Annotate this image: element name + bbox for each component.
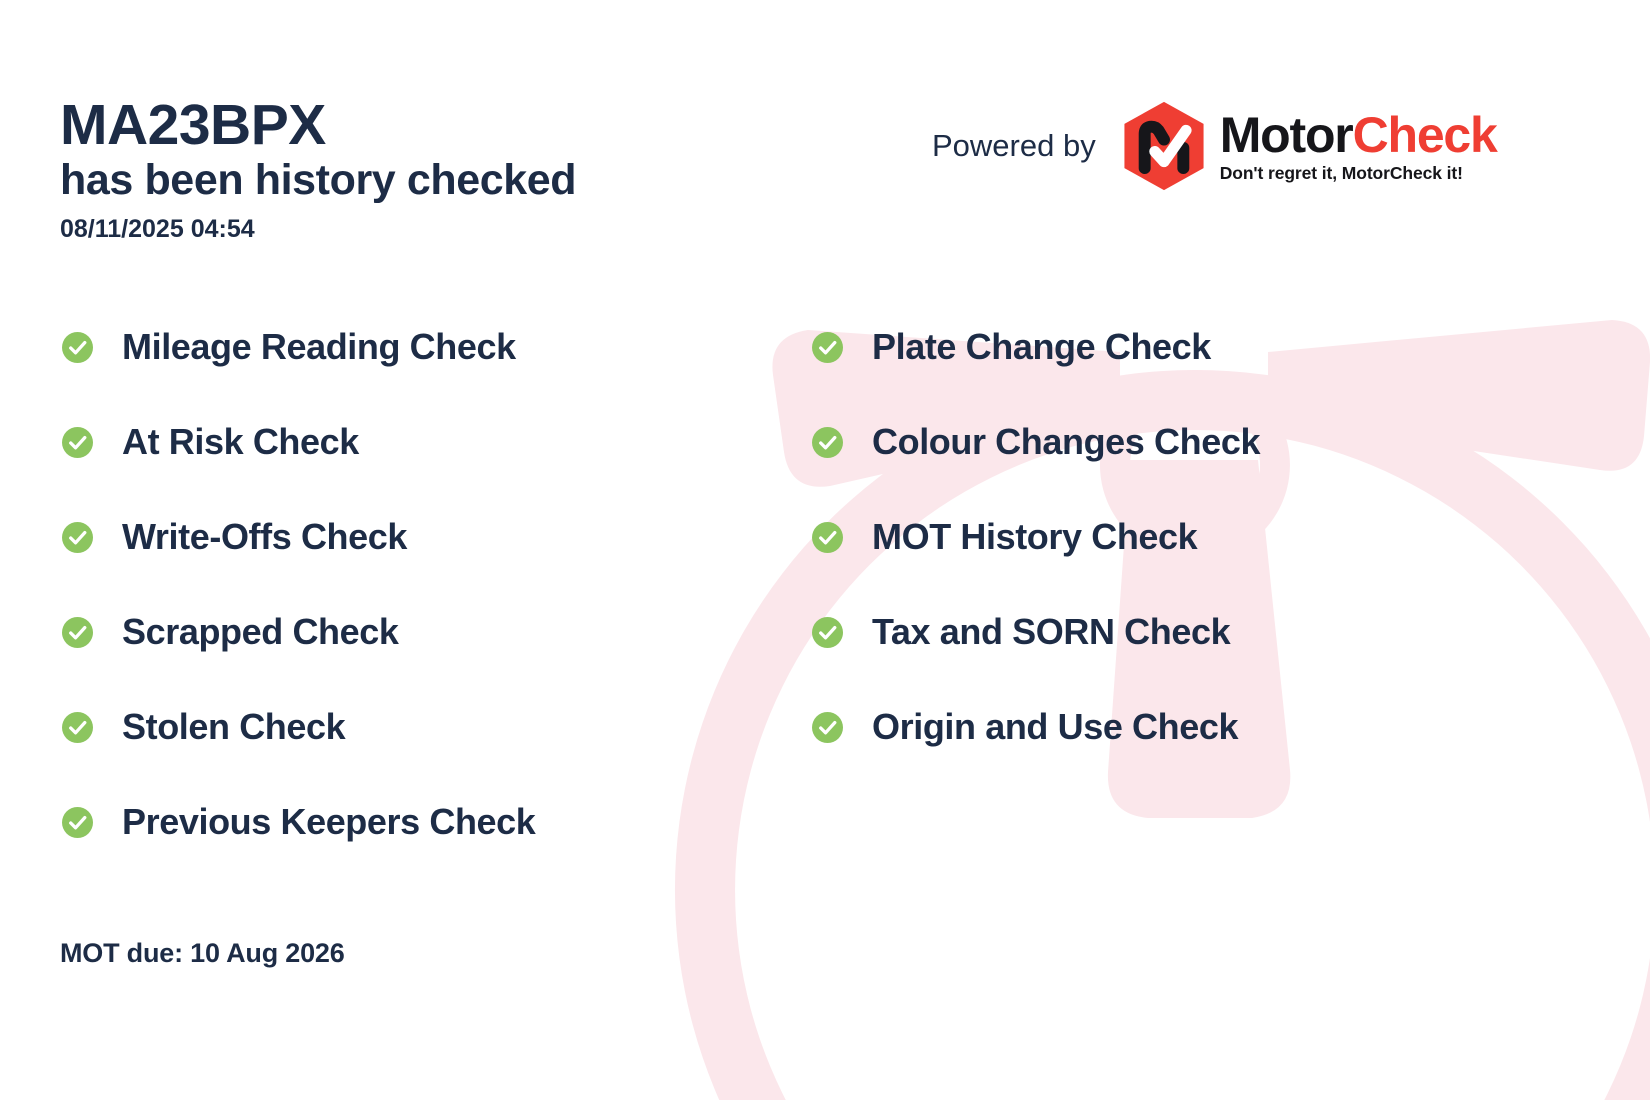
- check-list-item: Stolen Check: [62, 705, 535, 749]
- logo-tagline: Don't regret it, MotorCheck it!: [1220, 165, 1497, 183]
- green-check-circle-icon: [62, 332, 93, 363]
- vehicle-registration: MA23BPX: [60, 96, 576, 154]
- check-list-item-label: Scrapped Check: [122, 614, 399, 650]
- green-check-circle-icon: [812, 427, 843, 458]
- check-list-item-label: Tax and SORN Check: [872, 614, 1230, 650]
- check-list-item-label: Colour Changes Check: [872, 424, 1260, 460]
- powered-by-label: Powered by: [932, 128, 1096, 164]
- check-list-item: Write-Offs Check: [62, 515, 535, 559]
- green-check-circle-icon: [812, 712, 843, 743]
- green-check-circle-icon: [62, 712, 93, 743]
- check-list-item-label: MOT History Check: [872, 519, 1197, 555]
- check-timestamp: 08/11/2025 04:54: [60, 214, 576, 244]
- green-check-circle-icon: [62, 522, 93, 553]
- checklist-column-right: Plate Change Check Colour Changes Check …: [812, 325, 1260, 749]
- check-list-item-label: Stolen Check: [122, 709, 345, 745]
- powered-by-branding: Powered by MotorCheck Don't regret it, M…: [932, 100, 1497, 192]
- check-list-item-label: At Risk Check: [122, 424, 359, 460]
- check-list-item: Scrapped Check: [62, 610, 535, 654]
- check-list-item: Previous Keepers Check: [62, 800, 535, 844]
- mot-due-date: MOT due: 10 Aug 2026: [60, 938, 345, 969]
- check-list-item: Tax and SORN Check: [812, 610, 1260, 654]
- logo-word-check: Check: [1353, 107, 1497, 163]
- check-list-item-label: Write-Offs Check: [122, 519, 407, 555]
- green-check-circle-icon: [812, 522, 843, 553]
- vehicle-history-check-card: MA23BPX has been history checked 08/11/2…: [0, 0, 1650, 1100]
- check-list-item: MOT History Check: [812, 515, 1260, 559]
- check-list-item: Mileage Reading Check: [62, 325, 535, 369]
- check-list-item: Origin and Use Check: [812, 705, 1260, 749]
- check-list-item-label: Mileage Reading Check: [122, 329, 516, 365]
- check-list-item: Colour Changes Check: [812, 420, 1260, 464]
- check-status-headline: has been history checked: [60, 154, 576, 208]
- green-check-circle-icon: [62, 807, 93, 838]
- card-header: MA23BPX has been history checked 08/11/2…: [60, 96, 576, 244]
- green-check-circle-icon: [812, 332, 843, 363]
- check-list-item-label: Plate Change Check: [872, 329, 1211, 365]
- green-check-circle-icon: [62, 427, 93, 458]
- green-check-circle-icon: [62, 617, 93, 648]
- green-check-circle-icon: [812, 617, 843, 648]
- motorcheck-logo: MotorCheck Don't regret it, MotorCheck i…: [1118, 100, 1497, 192]
- logo-word-motor: Motor: [1220, 107, 1353, 163]
- check-list-item-label: Origin and Use Check: [872, 709, 1238, 745]
- check-list-item: Plate Change Check: [812, 325, 1260, 369]
- motorcheck-hexagon-m-tick-icon: [1118, 100, 1210, 192]
- check-list-item-label: Previous Keepers Check: [122, 804, 535, 840]
- checklist-column-left: Mileage Reading Check At Risk Check Writ…: [62, 325, 535, 844]
- check-list-item: At Risk Check: [62, 420, 535, 464]
